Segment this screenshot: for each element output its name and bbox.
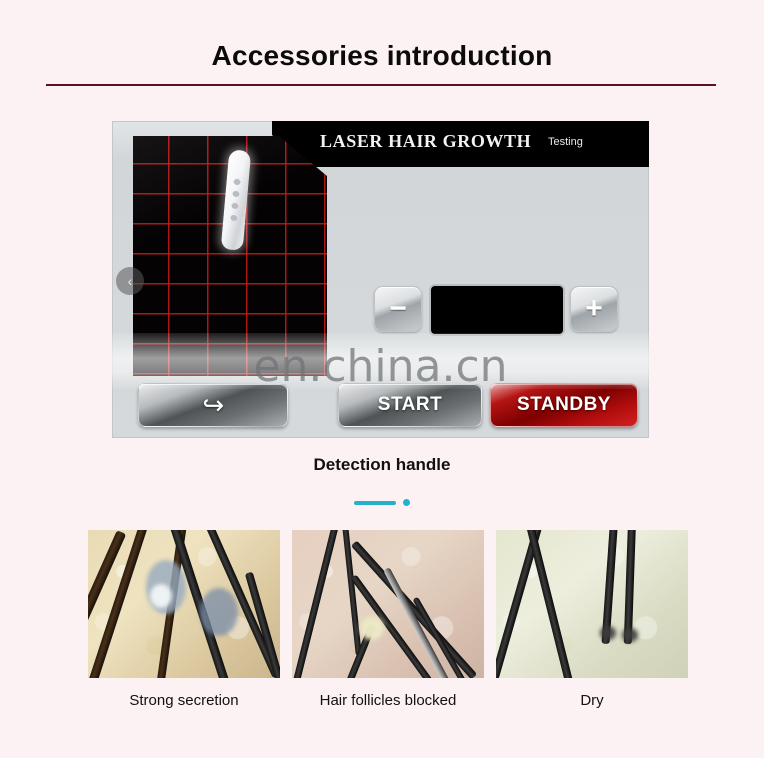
thumbnail-caption: Dry bbox=[496, 692, 688, 709]
thumbnail-caption: Hair follicles blocked bbox=[292, 692, 484, 709]
thumbnail-image-hair-follicles-blocked[interactable] bbox=[292, 530, 484, 678]
page-title: Accessories introduction bbox=[0, 40, 764, 72]
wand-button bbox=[231, 202, 239, 210]
wand-button bbox=[230, 214, 238, 222]
thumbnail-image-strong-secretion[interactable] bbox=[88, 530, 280, 678]
main-image-caption: Detection handle bbox=[0, 455, 764, 475]
plus-icon: + bbox=[585, 294, 603, 324]
standby-button[interactable]: STANDBY bbox=[490, 383, 638, 427]
device-header-title: LASER HAIR GROWTH bbox=[320, 131, 531, 152]
secretion-blob bbox=[150, 584, 172, 608]
device-status-label: Testing bbox=[548, 136, 583, 148]
hair-tip bbox=[622, 628, 638, 642]
thumbnail-item[interactable]: Hair follicles blocked bbox=[292, 530, 484, 709]
follicle-plug bbox=[360, 616, 384, 640]
device-grid-panel bbox=[133, 136, 327, 376]
thumbnail-image-dry[interactable] bbox=[496, 530, 688, 678]
decrease-button[interactable]: − bbox=[374, 286, 422, 332]
carousel-indicator-active[interactable] bbox=[354, 501, 396, 505]
skin-texture bbox=[496, 530, 688, 678]
carousel-indicator[interactable] bbox=[0, 499, 764, 506]
hair-tip bbox=[600, 626, 616, 640]
carousel-indicator-dot[interactable] bbox=[403, 499, 410, 506]
thumbnail-row: Strong secretion Hair follicles blocked … bbox=[88, 530, 688, 709]
carousel-main-image[interactable]: LASER HAIR GROWTH Testing ‹ − + ↩ START … bbox=[112, 121, 649, 438]
wand-buttons bbox=[230, 178, 242, 227]
carousel-prev-icon[interactable]: ‹ bbox=[116, 267, 144, 295]
title-divider bbox=[46, 84, 716, 86]
thumbnail-item[interactable]: Strong secretion bbox=[88, 530, 280, 709]
thumbnail-caption: Strong secretion bbox=[88, 692, 280, 709]
wand-button bbox=[232, 190, 240, 198]
device-display bbox=[429, 284, 565, 336]
thumbnail-item[interactable]: Dry bbox=[496, 530, 688, 709]
increase-button[interactable]: + bbox=[570, 286, 618, 332]
wand-button bbox=[233, 178, 241, 186]
secretion-blob bbox=[200, 588, 238, 636]
start-button[interactable]: START bbox=[338, 383, 482, 427]
minus-icon: − bbox=[389, 294, 407, 324]
back-arrow-icon: ↩ bbox=[202, 384, 224, 426]
back-button[interactable]: ↩ bbox=[138, 383, 288, 427]
